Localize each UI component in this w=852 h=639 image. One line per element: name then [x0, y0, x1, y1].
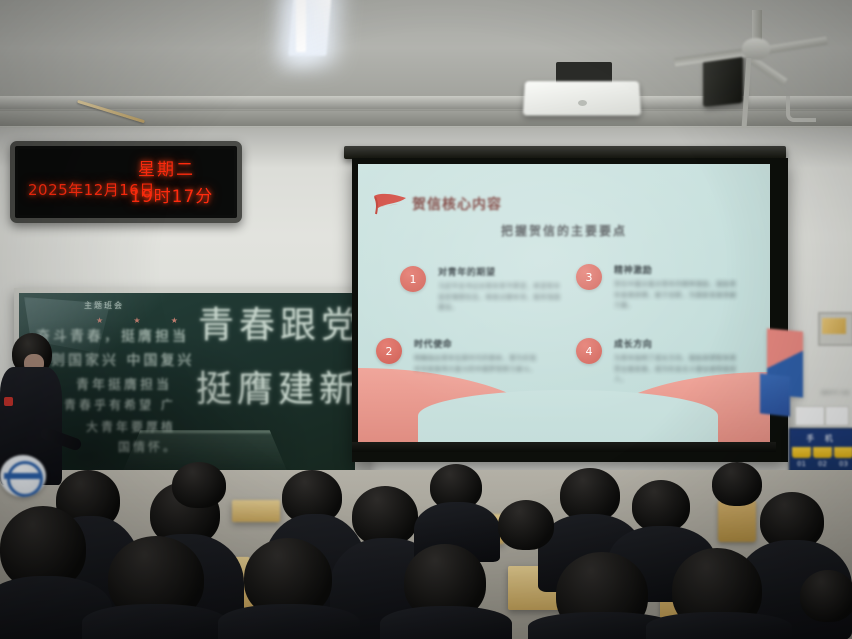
student-shoulders	[380, 606, 512, 639]
student-head	[632, 480, 690, 532]
phone-rack-slot: 01	[792, 447, 811, 468]
student-head	[172, 462, 226, 508]
phone-rack-title: 手 机	[790, 433, 852, 444]
student-head	[712, 462, 762, 506]
student-head	[498, 500, 554, 550]
led-screen: 2025年12月16日 星期二 19时17分	[18, 149, 234, 215]
red-flag-icon	[372, 192, 408, 216]
phone-pocket	[792, 447, 811, 458]
light-switch-plate[interactable]	[795, 406, 825, 426]
point-text: 贺信中蕴含着对青年的精神激励，鼓励青年奋勇拼搏，敢于创新，为国家发展贡献力量。	[614, 279, 742, 311]
point-number-badge: 3	[576, 264, 602, 290]
point-body: 精神激励 贺信中蕴含着对青年的精神激励，鼓励青年奋勇拼搏，敢于创新，为国家发展贡…	[614, 263, 742, 311]
led-weekday-text: 星期二	[138, 155, 195, 180]
point-heading: 成长方向	[614, 337, 742, 350]
wall-note-text: 请按学号 存放	[821, 390, 850, 395]
emblem-bar	[4, 473, 40, 479]
emblem-ring-icon	[7, 461, 43, 497]
fluorescent-tube-light	[288, 0, 331, 56]
led-time-text: 19时17分	[130, 182, 213, 207]
phone-slot-label: 02	[813, 460, 832, 468]
point-body: 对青年的期望 习近平总书记对青年寄予厚望，希望青年坚定理想信念，练就过硬本领，服…	[438, 265, 566, 313]
slide-subtitle: 把握贺信的主要要点	[358, 222, 770, 239]
phone-slot-label: 03	[834, 460, 852, 468]
phone-rack-slots: 01 02 03	[792, 447, 852, 468]
point-heading: 时代使命	[414, 337, 542, 350]
student-head	[800, 570, 852, 622]
phone-rack-slot: 02	[813, 447, 832, 468]
point-heading: 精神激励	[614, 263, 742, 276]
point-number-badge: 1	[400, 266, 426, 292]
school-emblem	[0, 455, 46, 497]
projector-lens-icon	[578, 100, 587, 106]
student-desk	[232, 500, 280, 522]
wall-poster-secondary	[760, 373, 790, 416]
light-switch-plate-2[interactable]	[825, 406, 849, 426]
fluorescent-tube-core	[296, 0, 306, 52]
point-text: 习近平总书记对青年寄予厚望，希望青年坚定理想信念，练就过硬本领，服务强国建设。	[438, 281, 566, 313]
presentation-slide: 贺信核心内容 把握贺信的主要要点 1 对青年的期望 习近平总书记对青年寄予厚望，…	[358, 164, 770, 442]
led-clock-display: 2025年12月16日 星期二 19时17分	[10, 141, 242, 223]
phone-pocket	[834, 447, 852, 458]
student-shoulders	[218, 604, 360, 639]
classroom-photo: 2025年12月16日 星期二 19时17分 主题班会 ★ ★ ★ 奋斗青春，挺…	[0, 0, 852, 639]
student-shoulders	[82, 604, 228, 639]
point-number-badge: 4	[576, 338, 602, 364]
point-number-badge: 2	[376, 338, 402, 364]
slide-decoration-mask	[418, 390, 718, 442]
student-head	[352, 486, 418, 546]
phone-rack-slot: 03	[834, 447, 852, 468]
wall-picture-content	[822, 318, 846, 334]
student-shoulders	[646, 612, 792, 639]
phone-slot-label: 01	[792, 460, 811, 468]
phone-pocket	[813, 447, 832, 458]
jacket-patch	[4, 397, 13, 406]
ceiling-fan-hub	[742, 38, 770, 60]
screen-bottom-bar	[352, 442, 776, 452]
point-body: 时代使命 明确指出青年在新时代的使命，要为实现中华民族伟大复兴的中国梦而努力奋斗…	[414, 337, 542, 374]
projector	[523, 81, 641, 115]
slide-title: 贺信核心内容	[412, 194, 502, 214]
point-body: 成长方向 为青年指明了成长方向，鼓励其德智体美劳全面发展，成为社会主义建设者和接…	[614, 337, 742, 385]
point-heading: 对青年的期望	[438, 265, 566, 278]
chair-back	[718, 500, 756, 542]
point-text: 为青年指明了成长方向，鼓励其德智体美劳全面发展，成为社会主义建设者和接班人。	[614, 353, 742, 385]
point-text: 明确指出青年在新时代的使命，要为实现中华民族伟大复兴的中国梦而努力奋斗。	[414, 353, 542, 374]
ceiling-hook	[786, 96, 816, 122]
